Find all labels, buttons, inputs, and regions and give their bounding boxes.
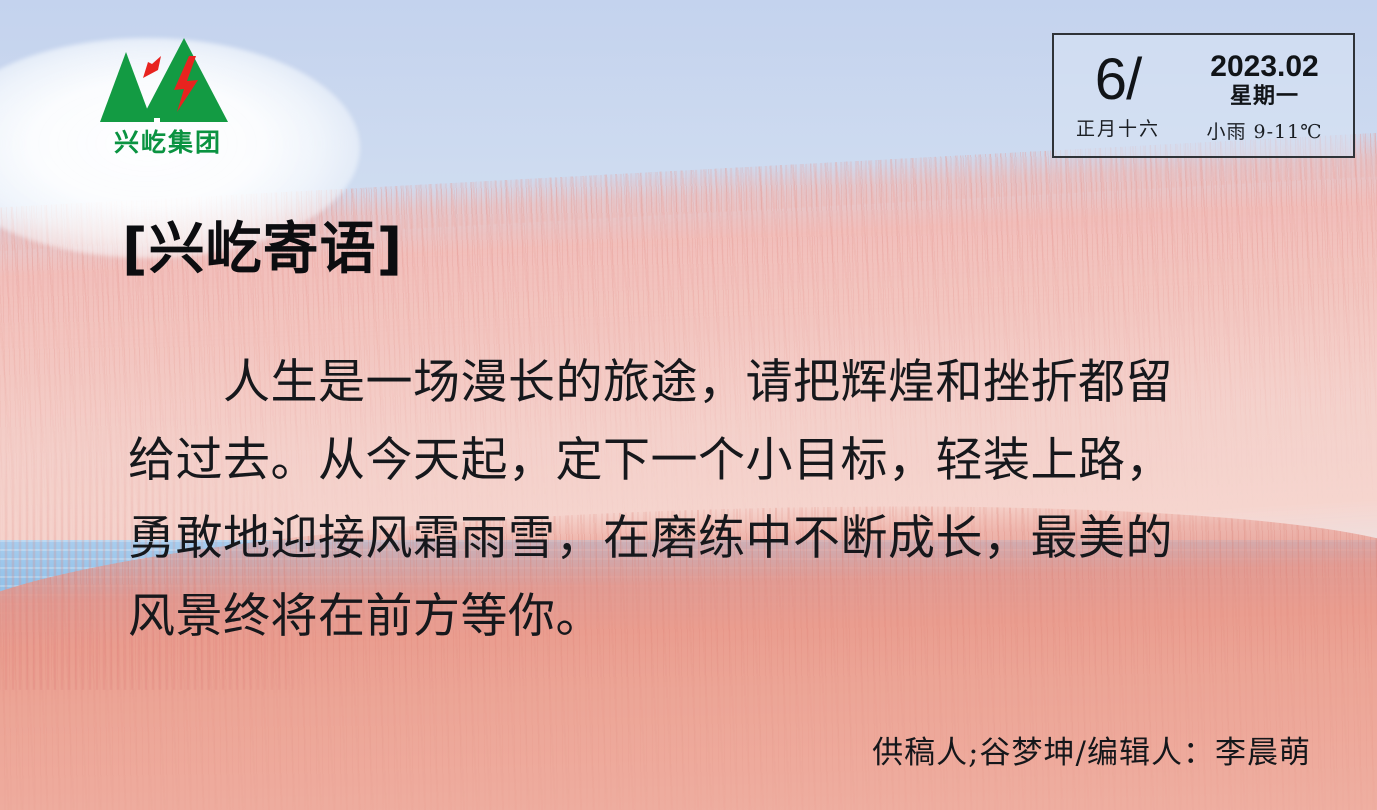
body-line: 勇敢地迎接风霜雨雪，在磨练中不断成长，最美的: [128, 500, 1268, 578]
day-value: 6: [1095, 47, 1126, 112]
mountain-peaks-logo-icon: [88, 32, 248, 128]
year-month: 2023.02: [1210, 51, 1318, 83]
date-card-right: 2023.02 星期一 小雨 9-11℃: [1182, 35, 1353, 156]
body-copy: 人生是一场漫长的旅途，请把辉煌和挫折都留 给过去。从今天起，定下一个小目标，轻装…: [128, 344, 1268, 656]
body-line: 给过去。从今天起，定下一个小目标，轻装上路，: [128, 422, 1268, 500]
day-slash: /: [1126, 47, 1141, 112]
poster-canvas: 兴屹集团 6/ 正月十六 2023.02 星期一 小雨 9-11℃ [兴屹寄语]…: [0, 0, 1377, 810]
body-line: 风景终将在前方等你。: [128, 578, 1268, 656]
company-name: 兴屹集团: [88, 130, 248, 155]
lunar-date: 正月十六: [1076, 114, 1160, 141]
page-title: [兴屹寄语]: [122, 222, 403, 278]
body-line: 人生是一场漫长的旅途，请把辉煌和挫折都留: [128, 344, 1268, 422]
weekday: 星期一: [1230, 83, 1299, 112]
company-logo: 兴屹集团: [88, 32, 248, 160]
weather-info: 小雨 9-11℃: [1207, 117, 1323, 144]
day-number: 6/: [1095, 52, 1141, 107]
credit-line: 供稿人;谷梦坤/编辑人：李晨萌: [872, 727, 1311, 772]
date-card-left: 6/ 正月十六: [1054, 35, 1182, 156]
date-weather-card: 6/ 正月十六 2023.02 星期一 小雨 9-11℃: [1052, 33, 1355, 158]
